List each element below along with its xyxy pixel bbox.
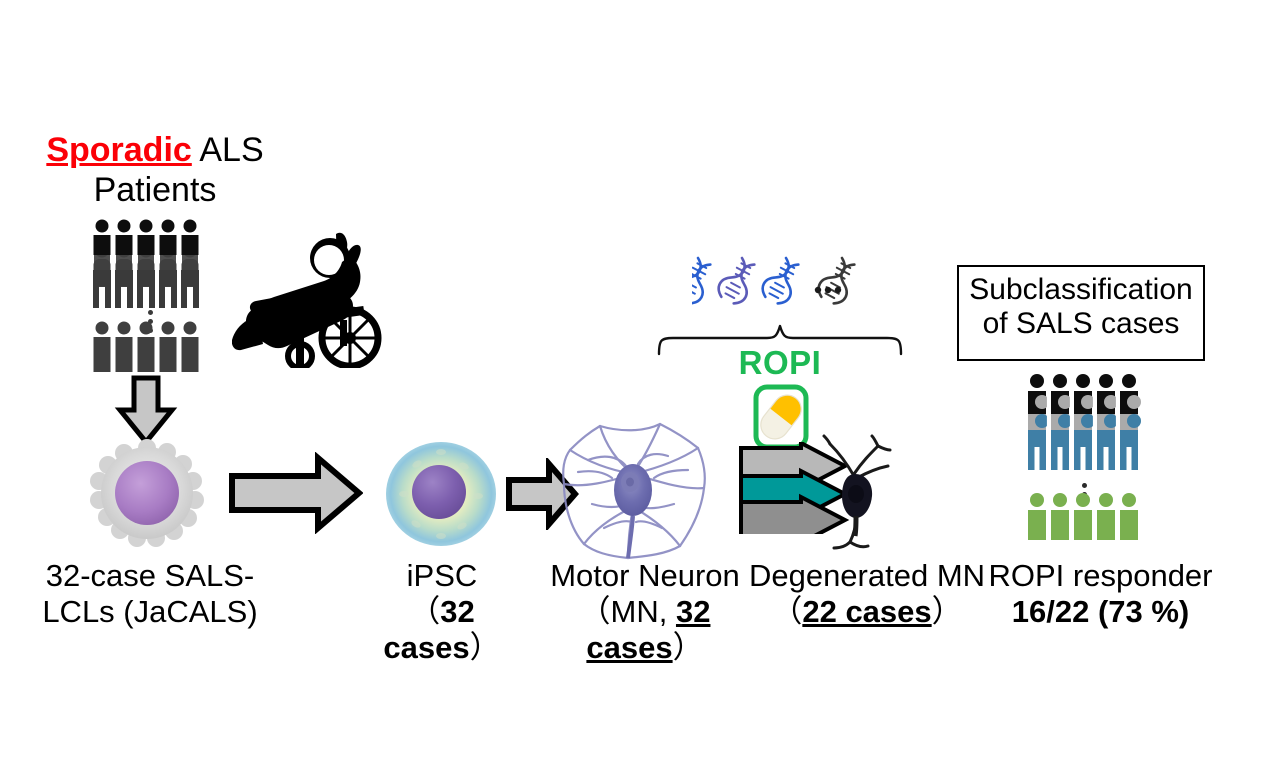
caption-mn-paren-open: （MN, [580, 594, 676, 629]
caption-degen-count: 22 cases [802, 594, 931, 629]
dna-helices-icon [692, 252, 864, 324]
caption-ipsc-paren-open: （ [409, 594, 440, 629]
patients-text: Patients [94, 171, 217, 209]
caption-degen-paren-close: ） [932, 594, 963, 629]
caption-responder-line1: ROPI responder [989, 558, 1213, 593]
lymphoblastoid-cell-icon [85, 438, 210, 553]
responders-green-row [1023, 492, 1145, 540]
caption-degenerated: Degenerated MN （22 cases） [742, 558, 992, 630]
motor-neuron-icon [548, 412, 718, 562]
arrow-down-patients-to-lcl [110, 374, 182, 446]
caption-mn-paren-close: ） [673, 630, 704, 665]
ipsc-cell-icon [382, 438, 500, 550]
sporadic-highlight: Sporadic [46, 131, 191, 169]
caption-lcl-line1: 32-case SALS- [46, 558, 255, 593]
caption-responder-value: 16/22 (73 %) [1012, 594, 1190, 629]
page-title: Sporadic ALS Patients [30, 130, 280, 210]
caption-ipsc-line1: iPSC [407, 558, 478, 593]
pill-capsule-icon [753, 384, 809, 450]
caption-ipsc: iPSC （32 cases） [352, 558, 532, 666]
caption-mn-line1: Motor Neuron [550, 558, 740, 593]
degenerated-motor-neuron-icon [812, 428, 902, 552]
subclassification-box: Subclassification of SALS cases [957, 265, 1205, 361]
subclassification-line2: of SALS cases [983, 307, 1180, 340]
subclassification-line1: Subclassification [969, 273, 1192, 306]
caption-ipsc-paren-close: ） [470, 630, 501, 665]
caption-lcl-line2: LCLs (JaCALS) [42, 594, 257, 629]
caption-lcl: 32-case SALS- LCLs (JaCALS) [10, 558, 290, 630]
als-text: ALS [192, 131, 264, 169]
caption-mn: Motor Neuron （MN, 32 cases） [530, 558, 760, 666]
caption-degen-line1: Degenerated MN [749, 558, 985, 593]
caption-degen-paren-open: （ [771, 594, 802, 629]
caption-responder: ROPI responder 16/22 (73 %) [968, 558, 1233, 630]
figure-canvas: Sporadic ALS Patients [0, 0, 1270, 768]
ropi-label: ROPI [690, 344, 870, 382]
arrow-lcl-to-ipsc [228, 452, 363, 534]
responders-pictogram [1023, 372, 1145, 494]
patients-pictogram-row2 [88, 320, 206, 372]
wheelchair-patient-icon [232, 216, 382, 368]
